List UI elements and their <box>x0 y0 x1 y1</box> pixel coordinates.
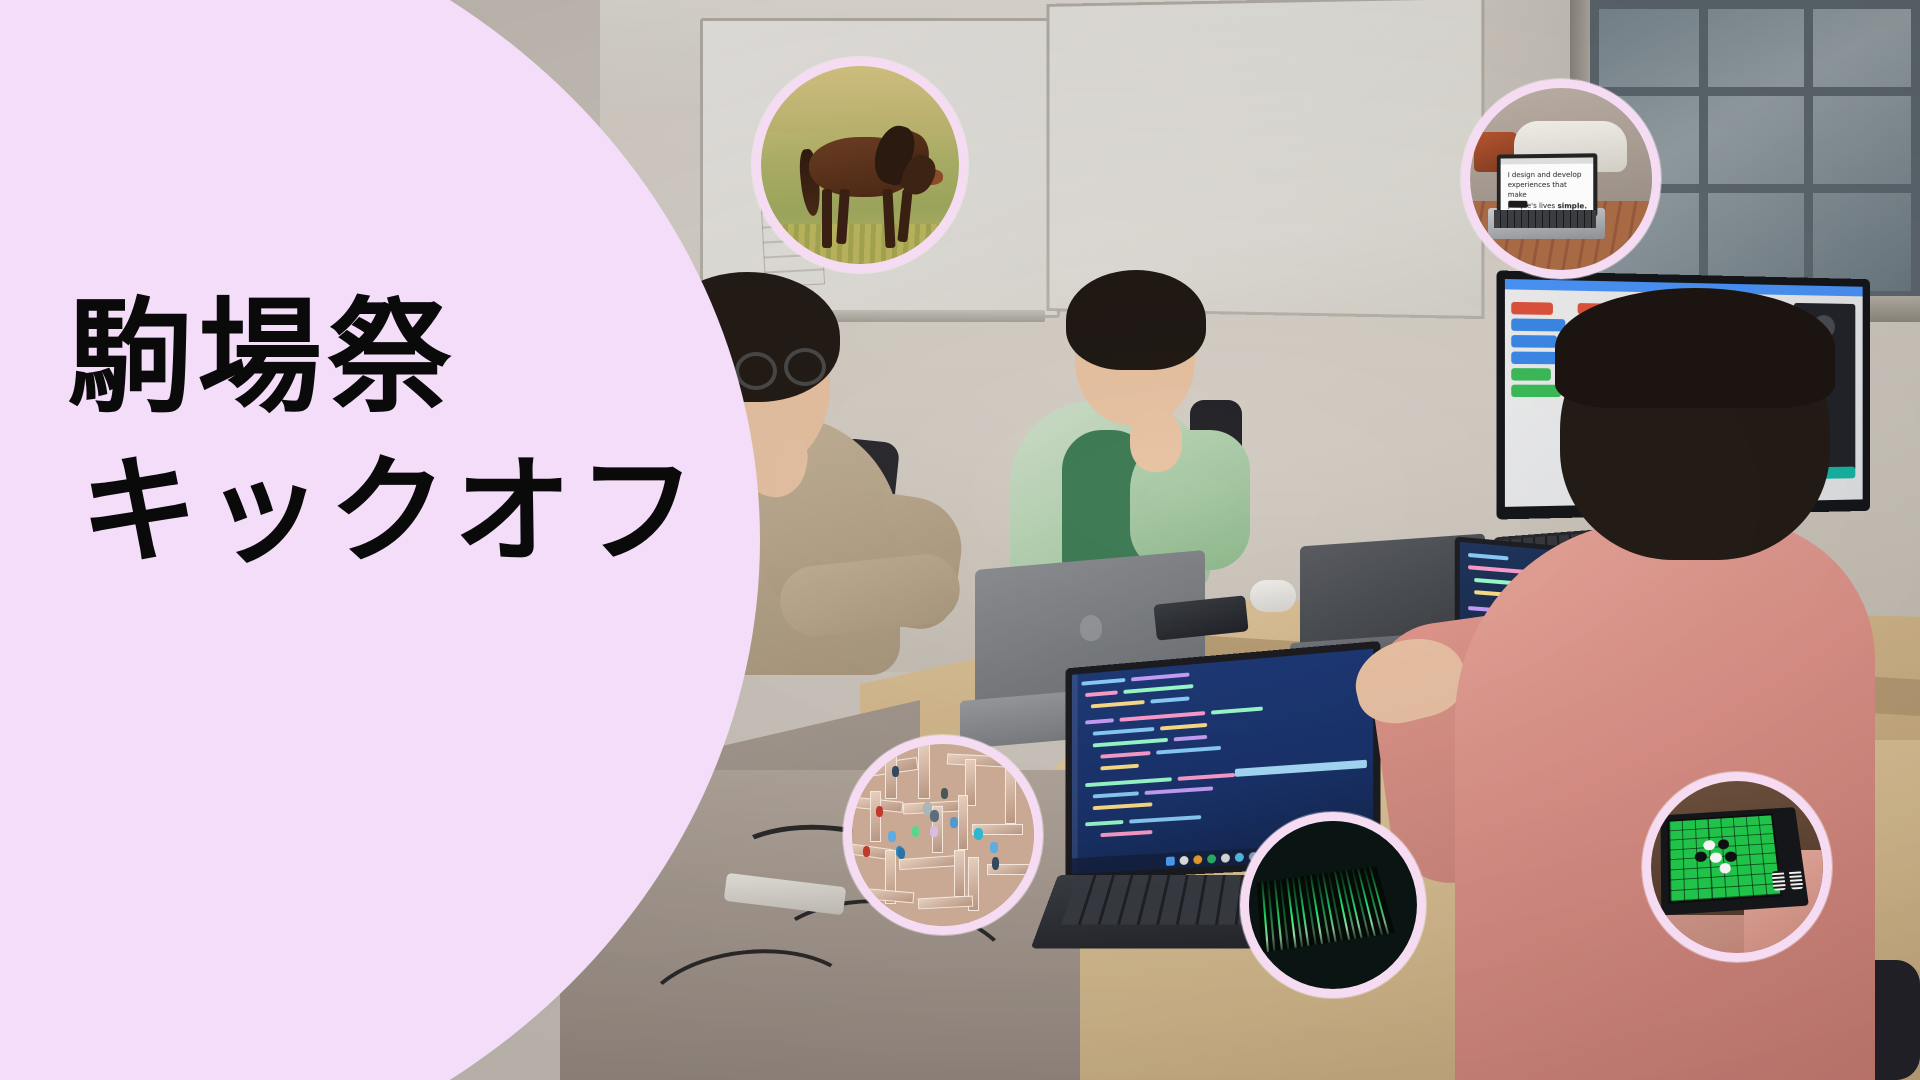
maze-person <box>974 828 983 841</box>
page-subtitle: キックオフ <box>80 452 702 570</box>
othello-disc-black <box>1718 839 1730 850</box>
othello-board-photo-bubble <box>1642 772 1832 962</box>
kickoff-banner: 駒場祭 キックオフ <box>0 0 1920 1080</box>
maze-photo-bubble <box>843 735 1043 935</box>
othello-case <box>1661 807 1809 915</box>
horse-photo-bubble <box>752 57 968 273</box>
maze-person <box>892 766 899 777</box>
maze-person <box>992 857 999 870</box>
design-line-bold: simple. <box>1558 200 1588 209</box>
design-laptop-photo-bubble: I design and develop experiences that ma… <box>1461 79 1661 279</box>
othello-disc-black <box>1695 852 1707 863</box>
maze-person <box>990 842 997 853</box>
othello-disc-white <box>1710 852 1722 863</box>
page-title: 駒場祭 <box>68 296 457 420</box>
maze-person <box>898 848 905 859</box>
maze-person <box>888 831 895 842</box>
othello-disc-stack <box>1772 871 1787 890</box>
maze-person <box>912 826 919 837</box>
maze-person <box>941 788 948 799</box>
othello-disc-stack <box>1789 870 1804 889</box>
othello-disc-white <box>1719 863 1731 874</box>
maze-person <box>930 810 939 823</box>
maze-person <box>876 806 883 817</box>
maze-person <box>950 817 957 828</box>
othello-disc-black <box>1725 851 1737 862</box>
maze-person <box>863 846 870 857</box>
title-block: 駒場祭 キックオフ <box>0 0 640 1080</box>
othello-board <box>1668 814 1783 904</box>
maze-person <box>930 826 937 837</box>
design-line-2: experiences that make <box>1508 180 1567 199</box>
othello-disc-white <box>1703 840 1715 851</box>
design-laptop-screen: I design and develop experiences that ma… <box>1497 153 1597 216</box>
design-line-1: I design and develop <box>1508 169 1582 178</box>
matrix-code-photo-bubble <box>1240 812 1426 998</box>
